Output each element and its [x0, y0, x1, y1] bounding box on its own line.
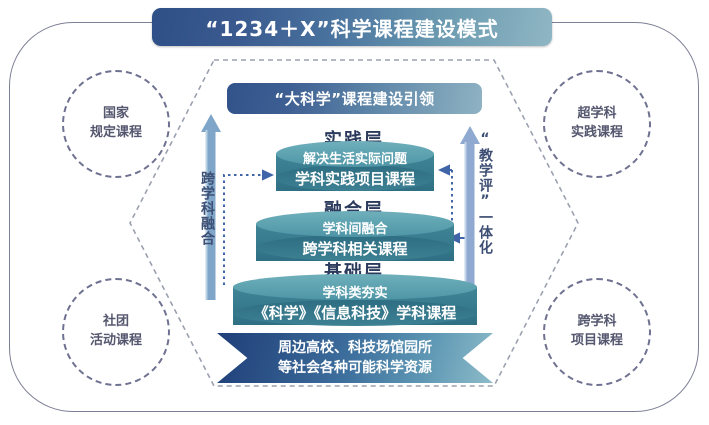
- cylinder-practice-layer[interactable]: 解决生活实际问题 学科实践项目课程: [276, 141, 434, 191]
- sub-title-text: “大科学”课程建设引领: [274, 88, 434, 109]
- right-vertical-label: “教学评”一体化: [478, 131, 492, 255]
- cylinder-body-label: 《科学》《信息科技》学科课程: [233, 302, 477, 323]
- ribbon-line-1: 周边高校、科技场馆园所: [278, 338, 432, 358]
- resources-ribbon: 周边高校、科技场馆园所 等社会各种可能科学资源: [217, 333, 493, 383]
- cylinder-body-label: 学科实践项目课程: [276, 168, 434, 189]
- cylinder-top-label: 学科间融合: [256, 218, 454, 237]
- cylinder-top-label: 学科类夯实: [233, 282, 477, 301]
- main-title-text: “1234＋X”科学课程建设模式: [205, 13, 498, 42]
- main-title-banner: “1234＋X”科学课程建设模式: [152, 8, 552, 46]
- cylinder-foundation-layer[interactable]: 学科类夯实 《科学》《信息科技》学科课程: [233, 274, 477, 326]
- cylinder-top-label: 解决生活实际问题: [276, 148, 434, 167]
- diagram-canvas: 国家 规定课程 超学科 实践课程 社团 活动课程 跨学科 项目课程: [0, 0, 709, 425]
- cylinder-body-label: 跨学科相关课程: [256, 238, 454, 259]
- left-vertical-label: 跨学科融合: [200, 171, 214, 246]
- ribbon-line-2: 等社会各种可能科学资源: [278, 358, 432, 378]
- cylinder-integration-layer[interactable]: 学科间融合 跨学科相关课程: [256, 211, 454, 261]
- sub-title-banner: “大科学”课程建设引领: [227, 83, 482, 114]
